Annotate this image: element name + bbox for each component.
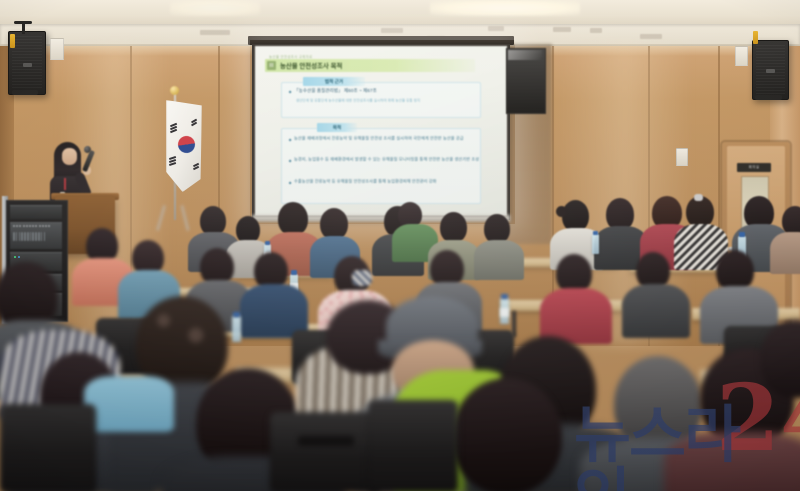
- jbl-logo-icon: [766, 69, 775, 73]
- speaker-tag: [10, 34, 15, 48]
- bottle-cap: [265, 241, 270, 245]
- hair-bun: [556, 206, 567, 217]
- audience-head: [278, 202, 308, 236]
- slide-bullet: 수출농산물 잔류농약 등 유해물질 안전성조사를 통해 농업환경피해 안전관리 …: [294, 179, 437, 185]
- presentation-slide: 농산물 안전성조사 교육자료 III 농산물 안전성조사 목적 법적 근거 「농…: [255, 46, 507, 216]
- audience-shoulders-front: [664, 432, 800, 491]
- presenter-face: [62, 148, 77, 165]
- water-bottle: [592, 234, 599, 254]
- slide-section-heading: 법적 근거: [303, 77, 365, 86]
- status-led: [18, 256, 20, 258]
- rack-unit[interactable]: [10, 205, 62, 219]
- audience-shoulders: [474, 240, 524, 280]
- wall-plate: [50, 38, 64, 60]
- audience-head: [440, 212, 467, 243]
- photo-scene: 농산물 안전성조사 교육자료 III 농산물 안전성조사 목적 법적 근거 「농…: [0, 0, 800, 491]
- jbl-logo-icon: [23, 63, 32, 67]
- ceiling-vent: [381, 28, 403, 33]
- status-led: [14, 256, 16, 258]
- chair-front: [270, 412, 380, 491]
- ceiling-vent: [553, 27, 571, 32]
- ceiling: [0, 0, 800, 26]
- presenter-lanyard: [64, 178, 66, 190]
- wall-speaker-right: [752, 40, 789, 100]
- light-switch[interactable]: [676, 148, 688, 166]
- slide-bullet: 「농수산물 품질관리법」 제60조 ~ 제67조: [294, 88, 377, 94]
- speaker-bracket: [12, 90, 38, 95]
- projection-screen: 농산물 안전성조사 교육자료 III 농산물 안전성조사 목적 법적 근거 「농…: [255, 46, 507, 216]
- water-bottle: [232, 316, 241, 342]
- audience-shoulders: [770, 232, 800, 274]
- chair-front: [368, 400, 458, 491]
- wall-plate: [735, 46, 748, 66]
- flag-finial: [170, 86, 179, 95]
- ceiling-vent: [590, 28, 602, 33]
- mixer-knob-row[interactable]: [13, 225, 50, 227]
- hair-scrunchie: [352, 270, 372, 286]
- slide-section-badge: III: [267, 61, 276, 70]
- hair-clip: [694, 194, 703, 201]
- bottle-cap: [291, 270, 297, 275]
- slide-bullet-sub: 생산단계 및 유통단계 농수산물에 대한 안전성조사를 실시하여 위해 농산물 …: [296, 98, 420, 103]
- audience-collar: [84, 376, 174, 432]
- speaker-tag: [753, 31, 758, 44]
- door-sign: 회의실: [737, 163, 771, 172]
- bottle-label: [500, 308, 509, 317]
- ceiling-vent: [488, 26, 504, 31]
- ceiling-vent: [640, 34, 662, 39]
- bottle-cap: [501, 294, 508, 299]
- chair-front: [0, 404, 96, 491]
- slide-bullet: 농경지, 농업용수 등 재배환경에서 발생할 수 있는 유해물질 모니터링을 통…: [294, 157, 479, 163]
- speaker-bracket: [755, 95, 782, 100]
- mixer-fader-row[interactable]: [13, 232, 45, 241]
- bottle-cap: [233, 312, 240, 317]
- ceiling-vent: [200, 30, 230, 35]
- audience-head-front: [452, 378, 562, 491]
- slide-section-heading: 목적: [317, 123, 357, 132]
- slide-title: 농산물 안전성조사 목적: [280, 61, 342, 70]
- audience-shoulders: [622, 284, 690, 338]
- microphone-head: [84, 146, 91, 153]
- bottle-cap: [593, 231, 598, 235]
- slide-bullet: 농산물 재배과정에서 잔류농약 및 유해물질 안전성 조사를 실시하여 국민에게…: [294, 136, 464, 142]
- ceiling-light: [430, 0, 580, 16]
- speaker-bracket: [14, 21, 32, 24]
- bottle-cap: [739, 232, 745, 237]
- monitor-glare: [508, 50, 542, 60]
- ceiling-light: [170, 0, 260, 16]
- chair-handle-slot: [298, 436, 354, 446]
